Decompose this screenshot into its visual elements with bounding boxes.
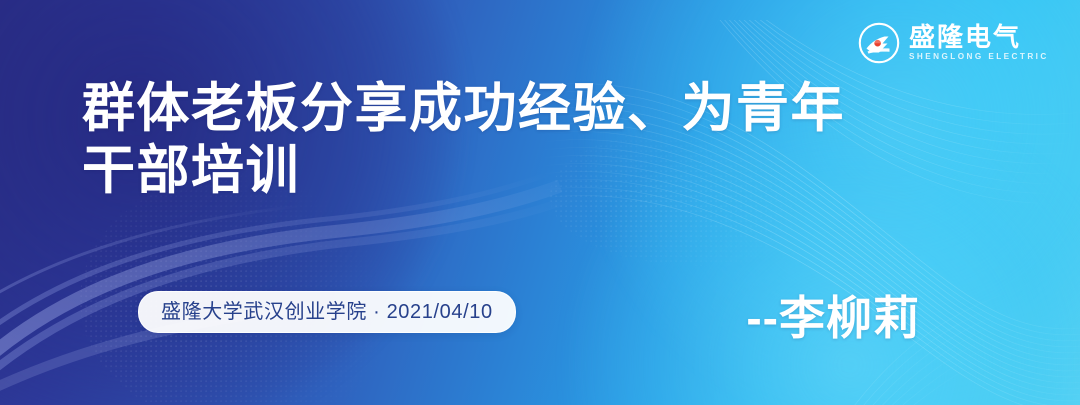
logo-wordmark: 盛隆电气 SHENGLONG ELECTRIC: [909, 24, 1046, 62]
presentation-title-banner: 群体老板分享成功经验、为青年 干部培训 --李柳莉 盛隆大学武汉创业学院 · 2…: [0, 0, 1080, 405]
brand-logo: 盛隆电气 SHENGLONG ELECTRIC: [858, 22, 1046, 64]
logo-name-cn: 盛隆电气: [909, 24, 1046, 51]
meta-pill-text: 盛隆大学武汉创业学院 · 2021/04/10: [161, 301, 493, 323]
shenglong-circular-emblem-icon: [858, 22, 900, 64]
title-block: 群体老板分享成功经验、为青年 干部培训 --李柳莉: [82, 78, 982, 202]
logo-name-en: SHENGLONG ELECTRIC: [909, 51, 1049, 62]
meta-pill: 盛隆大学武汉创业学院 · 2021/04/10: [138, 291, 516, 333]
title-line-2: 干部培训: [82, 140, 982, 202]
title-line-1: 群体老板分享成功经验、为青年: [82, 78, 982, 140]
